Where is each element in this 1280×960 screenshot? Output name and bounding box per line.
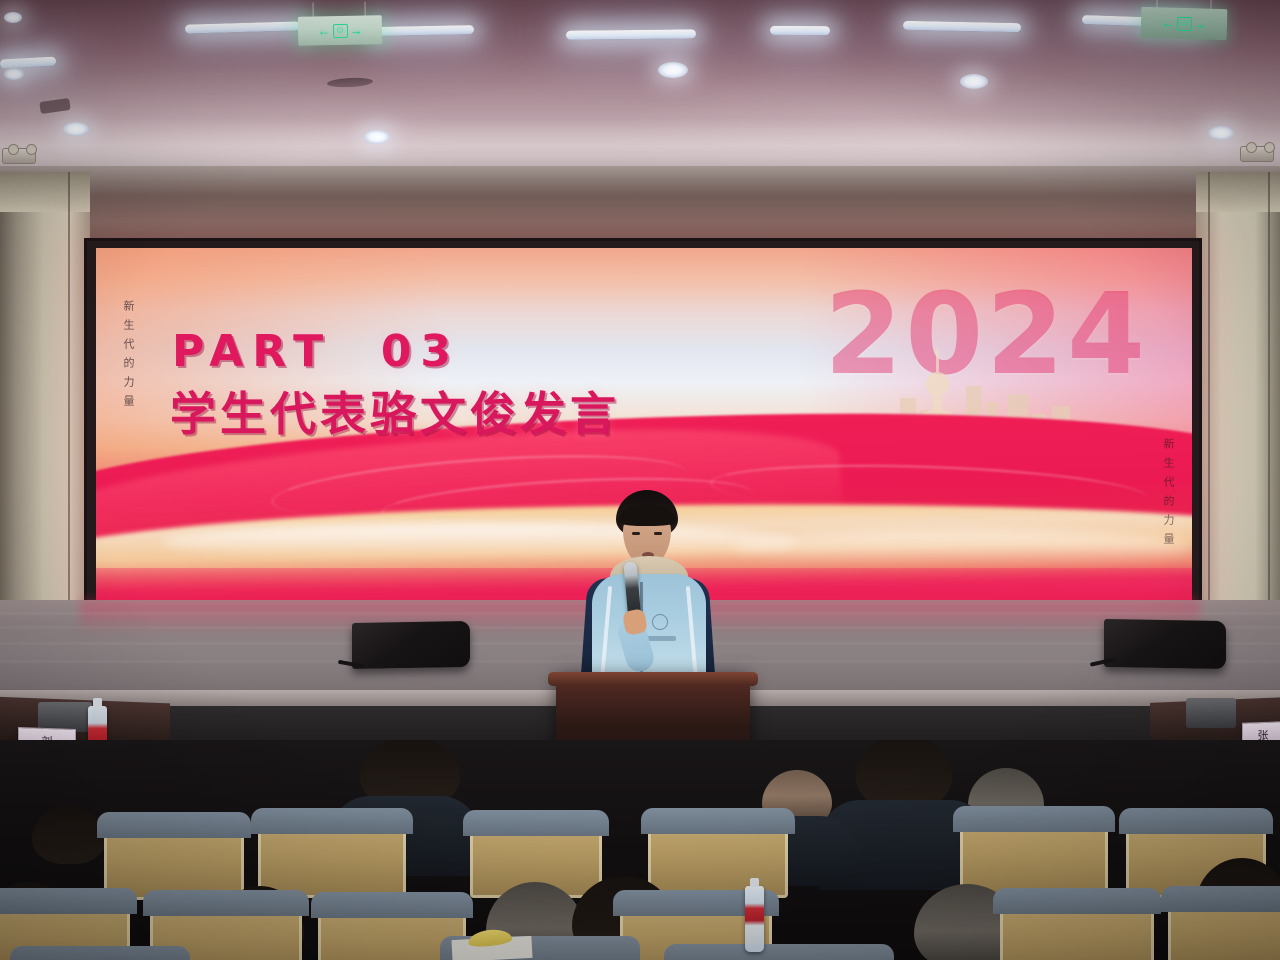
- ceiling-downlight: [364, 130, 390, 144]
- seat-cushion: [664, 944, 894, 960]
- seat-headrest: [251, 808, 413, 834]
- ceiling-speaker-icon: [1264, 142, 1275, 153]
- ceiling-downlight: [960, 74, 988, 89]
- water-bottle: [745, 886, 764, 952]
- gold-ribbon-highlight: [732, 530, 1192, 565]
- stage-monitor-right: [1104, 619, 1226, 669]
- upper-wall-sheen: [0, 166, 1280, 196]
- running-person-icon: ☺: [332, 23, 347, 37]
- exit-sign-right: ← ☺ →: [1141, 7, 1228, 40]
- seat-headrest: [953, 806, 1115, 832]
- auditorium-seat[interactable]: [1000, 904, 1154, 960]
- exit-sign-plate: ← ☺ →: [298, 15, 382, 45]
- ceiling-speaker-icon: [8, 144, 19, 155]
- auditorium-seat[interactable]: [1168, 902, 1280, 960]
- school-logo-badge: [652, 614, 668, 630]
- running-person-icon: ☺: [1176, 16, 1191, 30]
- ceiling-tube-light: [566, 29, 696, 39]
- seat-headrest: [143, 890, 309, 916]
- ceiling-downlight: [63, 122, 89, 136]
- ceiling-speaker-icon: [26, 144, 37, 155]
- seat-cushion: [10, 946, 190, 960]
- speaker-eye: [632, 532, 640, 535]
- seat-headrest: [463, 810, 609, 836]
- seat-headrest: [1161, 886, 1280, 912]
- auditorium-seat[interactable]: [648, 824, 788, 898]
- seat-headrest: [993, 888, 1161, 914]
- ceiling-downlight: [658, 62, 688, 78]
- ceiling-downlight: [4, 12, 22, 23]
- seat-headrest: [311, 892, 473, 918]
- stage-monitor-left: [352, 621, 470, 669]
- wall-seam: [1208, 172, 1210, 624]
- exit-sign-left: ← ☺ →: [298, 15, 382, 45]
- arrow-left-icon: ←: [317, 24, 330, 37]
- audience-head: [32, 806, 106, 864]
- head-table-chair: [1186, 698, 1236, 728]
- vertical-slogan-left: 新生代的力量: [120, 300, 136, 414]
- arrow-right-icon: →: [1193, 17, 1206, 30]
- exit-sign-plate: ← ☺ →: [1141, 7, 1228, 40]
- arrow-left-icon: ←: [1161, 16, 1174, 29]
- seat-headrest: [641, 808, 795, 834]
- seat-headrest: [97, 812, 251, 838]
- wall-seam: [68, 172, 70, 620]
- wall-bevel-left: [0, 172, 90, 212]
- auditorium-stage-photo: ← ☺ → ← ☺ → 2024: [0, 0, 1280, 960]
- auditorium-seat[interactable]: [258, 824, 406, 898]
- ceiling-tube-light: [770, 26, 830, 35]
- ceiling-downlight: [1208, 126, 1234, 140]
- audience-area: [0, 740, 1280, 960]
- vertical-slogan-right: 新生代的力量: [1160, 438, 1176, 552]
- student-speaker: [578, 490, 718, 690]
- speaker-eye: [654, 532, 662, 535]
- side-wall-left: [0, 172, 90, 620]
- auditorium-seat[interactable]: [960, 822, 1108, 896]
- part-label-text: PART 03: [172, 326, 460, 377]
- wall-seam: [1268, 172, 1270, 624]
- seat-headrest: [0, 888, 137, 914]
- arrow-right-icon: →: [349, 24, 362, 37]
- ceiling-speaker-icon: [1246, 142, 1257, 153]
- seat-headrest: [1119, 808, 1273, 834]
- ceiling-downlight: [4, 68, 24, 80]
- exit-sign-wire: [365, 2, 366, 16]
- screen-title-text: 学生代表骆文俊发言: [170, 378, 620, 444]
- podium-top-surface: [548, 672, 758, 686]
- school-logo-text: [646, 636, 676, 641]
